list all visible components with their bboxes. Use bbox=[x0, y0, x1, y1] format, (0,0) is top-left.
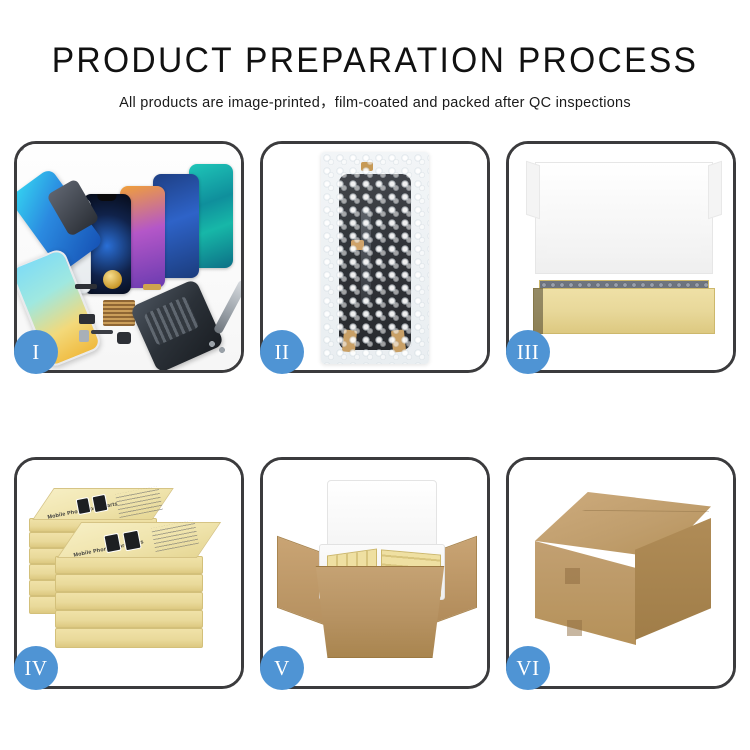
step-badge-3: III bbox=[506, 330, 550, 374]
stacked-box bbox=[55, 592, 203, 610]
chip-grid-part bbox=[103, 300, 135, 326]
carton-tape-mark bbox=[565, 568, 580, 584]
step-badge-5: V bbox=[260, 646, 304, 690]
ribbon-part bbox=[91, 330, 113, 334]
process-step-panel-1[interactable]: I bbox=[14, 141, 244, 373]
screw-part bbox=[17, 144, 24, 151]
carton-tape-mark bbox=[567, 620, 582, 636]
foam-sheet bbox=[547, 178, 701, 258]
page-header: PRODUCT PREPARATION PROCESS All products… bbox=[0, 40, 750, 112]
kraft-box-tray bbox=[533, 288, 715, 334]
phone-backplate-part bbox=[129, 278, 224, 370]
stacked-box bbox=[55, 556, 203, 574]
carton-front-face bbox=[535, 541, 636, 645]
screws-part bbox=[209, 340, 229, 354]
gold-connector-part bbox=[143, 284, 161, 290]
process-step-panel-3[interactable]: III bbox=[506, 141, 736, 373]
process-step-panel-4[interactable]: Mobile Phone Spare Parts Mobile Phone Sp… bbox=[14, 457, 244, 689]
bubble-wrap-package bbox=[321, 152, 429, 364]
styrofoam-lid bbox=[327, 480, 437, 554]
chip-part bbox=[79, 314, 95, 324]
step-badge-6: VI bbox=[506, 646, 550, 690]
battery-part bbox=[79, 330, 89, 342]
step-badge-1: I bbox=[14, 330, 58, 374]
step-badge-2: II bbox=[260, 330, 304, 374]
bubble-texture-overlay bbox=[321, 152, 429, 364]
process-step-panel-2[interactable]: II bbox=[260, 141, 490, 373]
camera-module-part bbox=[117, 332, 131, 344]
screwdriver-icon bbox=[213, 279, 241, 334]
process-step-panel-5[interactable]: V bbox=[260, 457, 490, 689]
stacked-box bbox=[55, 574, 203, 592]
stacked-box bbox=[55, 610, 203, 628]
flex-cable-part bbox=[75, 284, 97, 289]
process-step-panel-6[interactable]: VI bbox=[506, 457, 736, 689]
page-subtitle: All products are image-printed，film-coat… bbox=[0, 91, 750, 112]
box-label-phone-image bbox=[76, 497, 92, 515]
step-badge-4: IV bbox=[14, 646, 58, 690]
box-label-phone-image bbox=[92, 494, 109, 513]
product-preparation-process-page: PRODUCT PREPARATION PROCESS All products… bbox=[0, 0, 750, 750]
box-edge-shadow bbox=[533, 288, 543, 334]
box-label-phone-image bbox=[103, 533, 121, 554]
process-step-grid: I II bbox=[14, 141, 736, 689]
gold-disc-part bbox=[103, 270, 122, 289]
stacked-box bbox=[55, 628, 203, 648]
box-label-phone-image bbox=[122, 530, 141, 552]
carton-body bbox=[307, 566, 453, 658]
phone-notch-icon bbox=[97, 194, 116, 201]
page-title: PRODUCT PREPARATION PROCESS bbox=[15, 40, 735, 82]
